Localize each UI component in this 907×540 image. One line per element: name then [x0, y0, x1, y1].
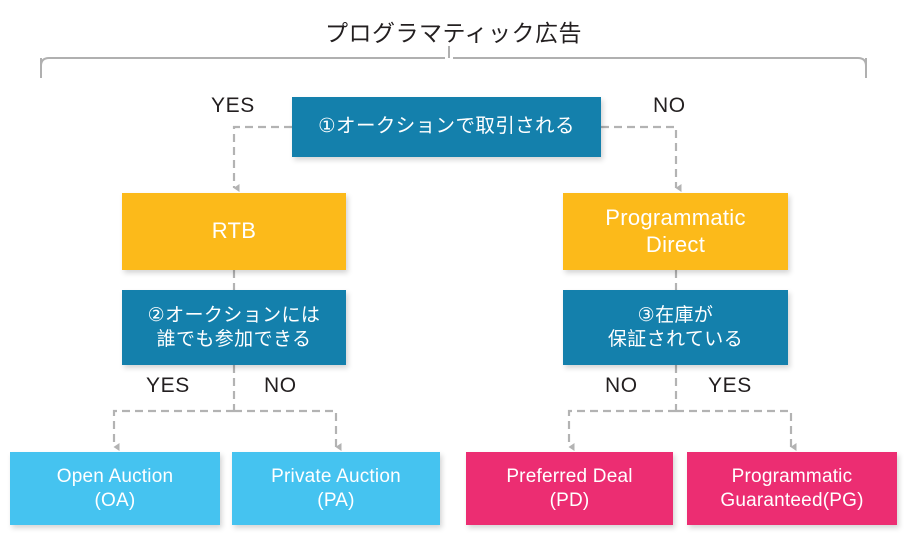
branch-label-d1-no: NO: [653, 94, 686, 118]
node-category-programmatic-direct[interactable]: Programmatic Direct: [563, 193, 788, 270]
node-leaf-programmatic-guaranteed[interactable]: Programmatic Guaranteed(PG): [687, 452, 897, 525]
node-leaf-private-auction[interactable]: Private Auction (PA): [232, 452, 440, 525]
branch-label-d3-no: NO: [605, 374, 638, 398]
edge-d2-yes-to-oa: [114, 411, 234, 447]
node-decision-3[interactable]: ③在庫が 保証されている: [563, 290, 788, 365]
branch-label-d2-yes: YES: [146, 374, 190, 398]
edge-d3-yes-to-pg: [676, 411, 791, 447]
diagram-canvas: プログラマティック広告 YES NO YES: [0, 0, 907, 540]
node-decision-2[interactable]: ②オークションには 誰でも参加できる: [122, 290, 346, 365]
branch-label-d3-yes: YES: [708, 374, 752, 398]
edge-d1-no-to-pdirect: [601, 127, 676, 188]
edge-d2-no-to-pa: [234, 411, 336, 447]
title-bracket: [41, 58, 866, 76]
edge-d3-no-to-pd: [569, 411, 676, 447]
node-leaf-open-auction[interactable]: Open Auction (OA): [10, 452, 220, 525]
node-decision-1[interactable]: ①オークションで取引される: [292, 97, 601, 157]
node-leaf-preferred-deal[interactable]: Preferred Deal (PD): [466, 452, 673, 525]
diagram-title: プログラマティック広告: [0, 14, 907, 48]
branch-label-d1-yes: YES: [211, 94, 255, 118]
branch-label-d2-no: NO: [264, 374, 297, 398]
node-category-rtb[interactable]: RTB: [122, 193, 346, 270]
edge-d1-yes-to-rtb: [234, 127, 292, 188]
